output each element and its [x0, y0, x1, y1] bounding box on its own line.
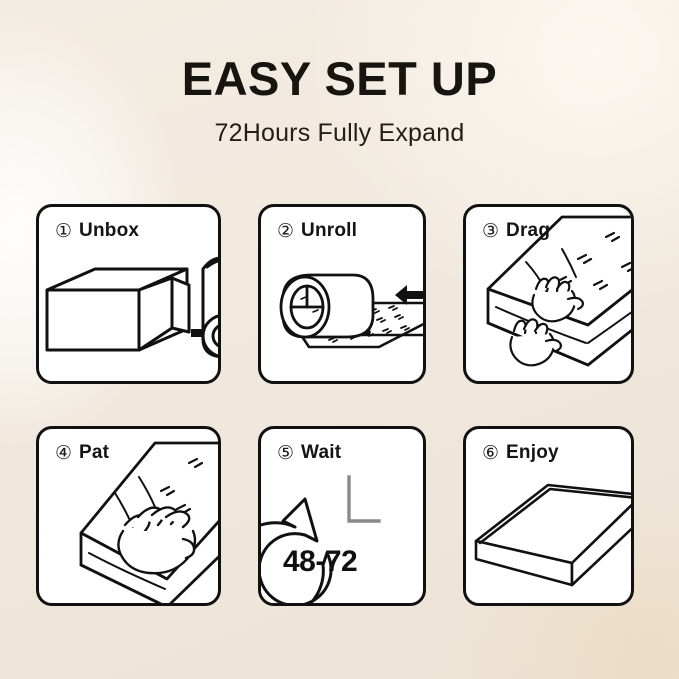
step-label-text: Enjoy [506, 442, 559, 464]
steps-row-1: ① Unbox [36, 204, 647, 384]
step-label-enjoy: ⑥ Enjoy [482, 442, 559, 464]
step-label-text: Unbox [79, 220, 139, 242]
header: EASY SET UP 72Hours Fully Expand [0, 54, 679, 148]
step-card-wait[interactable]: ⑤ Wait 48-72 [258, 426, 426, 606]
step-card-unroll[interactable]: ② Unroll [258, 204, 426, 384]
step-label-text: Pat [79, 442, 109, 464]
step-label-text: Wait [301, 442, 341, 464]
step-card-pat[interactable]: ④ Pat [36, 426, 221, 606]
step-number-icon: ⑤ [277, 444, 294, 463]
clock-hands-icon [349, 477, 379, 521]
step-label-unroll: ② Unroll [277, 220, 357, 242]
page-subtitle: 72Hours Fully Expand [0, 119, 679, 148]
step-label-text: Unroll [301, 220, 357, 242]
step-number-icon: ② [277, 222, 294, 241]
page-title: EASY SET UP [0, 54, 679, 103]
step-card-drag[interactable]: ③ Drag [463, 204, 634, 384]
wait-duration-label: 48-72 [283, 545, 357, 579]
step-card-enjoy[interactable]: ⑥ Enjoy [463, 426, 634, 606]
step-label-text: Drag [506, 220, 550, 242]
easy-set-up-infographic: EASY SET UP 72Hours Fully Expand ① Unbox [0, 0, 679, 679]
step-number-icon: ③ [482, 222, 499, 241]
steps-grid: ① Unbox [36, 204, 647, 648]
step-label-pat: ④ Pat [55, 442, 109, 464]
step-number-icon: ④ [55, 444, 72, 463]
steps-row-2: ④ Pat [36, 426, 647, 606]
step-label-unbox: ① Unbox [55, 220, 139, 242]
step-label-drag: ③ Drag [482, 220, 550, 242]
step-number-icon: ① [55, 222, 72, 241]
step-label-wait: ⑤ Wait [277, 442, 341, 464]
step-number-icon: ⑥ [482, 444, 499, 463]
step-card-unbox[interactable]: ① Unbox [36, 204, 221, 384]
